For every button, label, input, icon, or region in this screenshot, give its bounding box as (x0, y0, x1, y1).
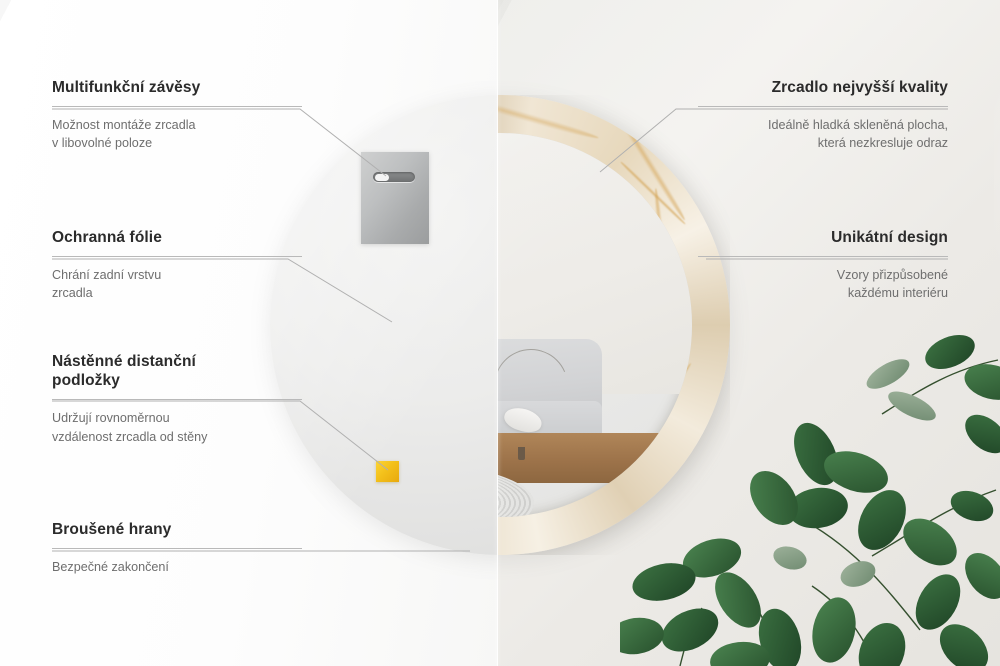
hanger-keyhole-slot (373, 172, 415, 182)
mirror-reflection (497, 133, 692, 517)
callout-title: Multifunkční závěsy (52, 78, 302, 97)
callout-rule (52, 256, 302, 257)
callout-title: Zrcadlo nejvyšší kvality (698, 78, 948, 97)
reflected-sofa-leg (518, 447, 525, 460)
mirror-hanger-plate (361, 152, 429, 244)
mirror-glass-surface (497, 133, 692, 517)
callout-rule (52, 548, 302, 549)
callout-title: Broušené hrany (52, 520, 302, 539)
reflected-wooden-floor (497, 433, 692, 483)
wall-spacer-pad (376, 461, 399, 482)
callout-title: Nástěnné distanční podložky (52, 352, 302, 390)
callout-description: Ideálně hladká skleněná plocha, která ne… (698, 116, 948, 152)
callout-rule (52, 399, 302, 400)
infographic-canvas: Multifunkční závěsy Možnost montáže zrca… (0, 0, 1000, 666)
callout-description: Vzory přizpůsobené každému interiéru (698, 266, 948, 302)
product-mirror (270, 95, 730, 555)
callout-description: Udržují rovnoměrnou vzdálenost zrcadla o… (52, 409, 302, 445)
callout-rule (52, 106, 302, 107)
callout-title: Unikátní design (698, 228, 948, 247)
callout-description: Bezpečné zakončení (52, 558, 302, 576)
callout-title: Ochranná fólie (52, 228, 302, 247)
right-panel-glow (994, 0, 1000, 666)
callout-rule (698, 256, 948, 257)
mirror-marble-frame (497, 95, 730, 555)
callout-description: Chrání zadní vrstvu zrcadla (52, 266, 302, 302)
mirror-front-clip (497, 95, 730, 555)
callout-multifunkcni-zavesy[interactable]: Multifunkční závěsy Možnost montáže zrca… (52, 78, 302, 152)
callout-nastenne-distancni-podlozky[interactable]: Nástěnné distanční podložky Udržují rovn… (52, 352, 302, 446)
callout-rule (698, 106, 948, 107)
panel-split-divider (497, 0, 498, 666)
callout-description: Možnost montáže zrcadla v libovolné polo… (52, 116, 302, 152)
callout-unikatni-design[interactable]: Unikátní design Vzory přizpůsobené každé… (698, 228, 948, 302)
callout-ochranna-folie[interactable]: Ochranná fólie Chrání zadní vrstvu zrcad… (52, 228, 302, 302)
callout-zrcadlo-nejvyssi-kvality[interactable]: Zrcadlo nejvyšší kvality Ideálně hladká … (698, 78, 948, 152)
callout-brousene-hrany[interactable]: Broušené hrany Bezpečné zakončení (52, 520, 302, 576)
